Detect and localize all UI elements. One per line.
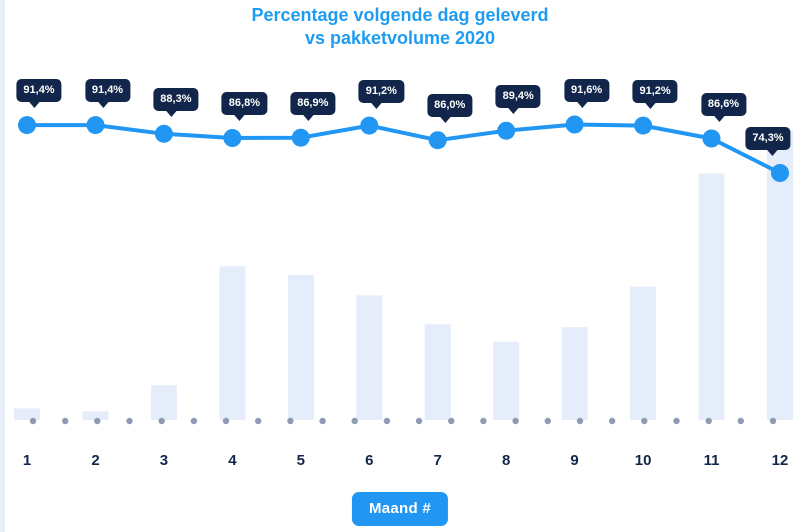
bar <box>288 275 314 420</box>
line-series-path <box>27 125 780 174</box>
baseline-dot <box>384 418 390 424</box>
x-tick-label: 7 <box>434 452 442 469</box>
bar <box>630 287 656 420</box>
data-label: 89,4% <box>496 85 541 108</box>
x-tick-label: 1 <box>23 452 31 469</box>
data-label: 91,6% <box>564 79 609 102</box>
chart-title: Percentage volgende dag geleverd vs pakk… <box>0 4 800 50</box>
line-point <box>292 129 310 147</box>
line-point <box>634 117 652 135</box>
baseline-dot <box>94 418 100 424</box>
bar <box>699 174 725 421</box>
data-label: 91,4% <box>16 79 61 102</box>
line-series-points <box>18 116 789 183</box>
plot-area: 91,4%91,4%88,3%86,8%86,9%91,2%86,0%89,4%… <box>5 60 800 430</box>
baseline-dot <box>416 418 422 424</box>
bar <box>14 408 40 420</box>
baseline-dot <box>287 418 293 424</box>
baseline-dot <box>545 418 551 424</box>
baseline-dot <box>126 418 132 424</box>
data-label: 88,3% <box>153 88 198 111</box>
baseline-dot <box>448 418 454 424</box>
x-tick-label: 3 <box>160 452 168 469</box>
x-axis-tick-labels: 123456789101112 <box>5 452 800 478</box>
data-label: 91,2% <box>632 80 677 103</box>
bar <box>356 295 382 420</box>
line-point <box>771 164 789 182</box>
data-label: 86,9% <box>290 92 335 115</box>
baseline-dot <box>191 418 197 424</box>
x-tick-label: 10 <box>635 452 652 469</box>
x-tick-label: 12 <box>772 452 789 469</box>
baseline-dot <box>255 418 261 424</box>
line-point <box>18 116 36 134</box>
line-point <box>360 117 378 135</box>
line-point <box>87 116 105 134</box>
bar-series <box>14 130 793 420</box>
line-point <box>566 116 584 134</box>
baseline-dot-row <box>30 418 776 424</box>
data-label: 91,4% <box>85 79 130 102</box>
data-label: 86,0% <box>427 94 472 117</box>
x-tick-label: 11 <box>704 452 720 469</box>
bar <box>425 324 451 420</box>
baseline-dot <box>609 418 615 424</box>
chart-container: Percentage volgende dag geleverd vs pakk… <box>0 0 800 532</box>
x-axis-title-pill: Maand # <box>352 492 448 526</box>
line-point <box>429 131 447 149</box>
bar <box>151 385 177 420</box>
x-tick-label: 5 <box>297 452 305 469</box>
baseline-dot <box>577 418 583 424</box>
x-tick-label: 6 <box>365 452 373 469</box>
baseline-dot <box>641 418 647 424</box>
baseline-dot <box>352 418 358 424</box>
baseline-dot <box>480 418 486 424</box>
x-tick-label: 8 <box>502 452 510 469</box>
data-label: 74,3% <box>745 127 790 150</box>
baseline-dot <box>512 418 518 424</box>
baseline-dot <box>62 418 68 424</box>
line-point <box>155 125 173 143</box>
x-tick-label: 4 <box>228 452 236 469</box>
data-label: 86,8% <box>222 92 267 115</box>
x-tick-label: 2 <box>91 452 99 469</box>
bar <box>219 266 245 420</box>
data-label: 86,6% <box>701 93 746 116</box>
line-point <box>223 129 241 147</box>
baseline-dot <box>738 418 744 424</box>
data-label: 91,2% <box>359 80 404 103</box>
bar <box>493 342 519 420</box>
baseline-dot <box>706 418 712 424</box>
line-point <box>497 122 515 140</box>
x-tick-label: 9 <box>570 452 578 469</box>
baseline-dot <box>159 418 165 424</box>
bar <box>562 327 588 420</box>
baseline-dot <box>30 418 36 424</box>
line-point <box>703 130 721 148</box>
baseline-dot <box>319 418 325 424</box>
baseline-dot <box>223 418 229 424</box>
plot-svg <box>5 60 800 430</box>
baseline-dot <box>673 418 679 424</box>
baseline-dot <box>770 418 776 424</box>
